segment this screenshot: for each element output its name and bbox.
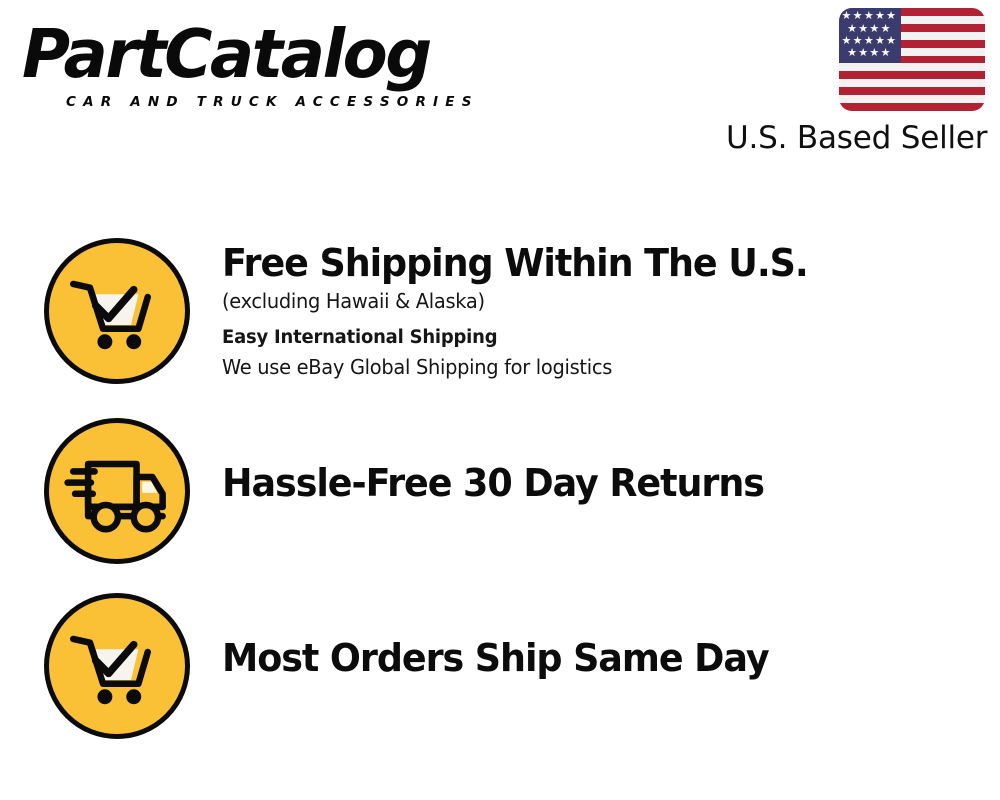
flag-stripe [839, 63, 985, 71]
feature-heading: Most Orders Ship Same Day [222, 635, 969, 681]
cart-check-icon [44, 238, 190, 384]
us-flag-icon: ★ ★ ★ ★ ★ ★ ★ ★ ★ ★ ★ ★ ★ ★ ★ ★ ★ ★ [839, 8, 985, 111]
flag-stripe [839, 79, 985, 87]
us-based-seller-label: U.S. Based Seller [726, 119, 986, 157]
flag-stripe [839, 103, 985, 111]
feature-subtext-bold: Easy International Shipping [222, 323, 977, 352]
flag-canton: ★ ★ ★ ★ ★ ★ ★ ★ ★ ★ ★ ★ ★ ★ ★ ★ ★ ★ [839, 8, 901, 63]
feature-row: Most Orders Ship Same Day [0, 593, 1000, 743]
brand-wordmark: PartCatalog [22, 18, 483, 90]
feature-subtext: (excluding Hawaii & Alaska) [222, 286, 977, 316]
feature-row: Hassle-Free 30 Day Returns [0, 418, 1000, 568]
feature-heading: Hassle-Free 30 Day Returns [222, 460, 969, 506]
brand-logo[interactable]: PartCatalog CAR AND TRUCK ACCESSORIES [22, 18, 492, 113]
page-header: PartCatalog CAR AND TRUCK ACCESSORIES ★ … [0, 0, 1000, 175]
feature-text: Free Shipping Within The U.S. (excluding… [222, 238, 1000, 382]
feature-text: Most Orders Ship Same Day [222, 593, 1000, 681]
feature-heading: Free Shipping Within The U.S. [222, 240, 969, 286]
feature-subtext: We use eBay Global Shipping for logistic… [222, 352, 977, 382]
cart-check-icon [44, 593, 190, 739]
us-based-seller-badge: ★ ★ ★ ★ ★ ★ ★ ★ ★ ★ ★ ★ ★ ★ ★ ★ ★ ★ U.S.… [726, 8, 986, 157]
feature-row: Free Shipping Within The U.S. (excluding… [0, 238, 1000, 398]
feature-text: Hassle-Free 30 Day Returns [222, 418, 1000, 506]
brand-tagline: CAR AND TRUCK ACCESSORIES [66, 94, 479, 110]
flag-stripe [839, 71, 985, 79]
delivery-truck-icon [44, 418, 190, 564]
flag-stripe [839, 87, 985, 95]
flag-stripe [839, 95, 985, 103]
